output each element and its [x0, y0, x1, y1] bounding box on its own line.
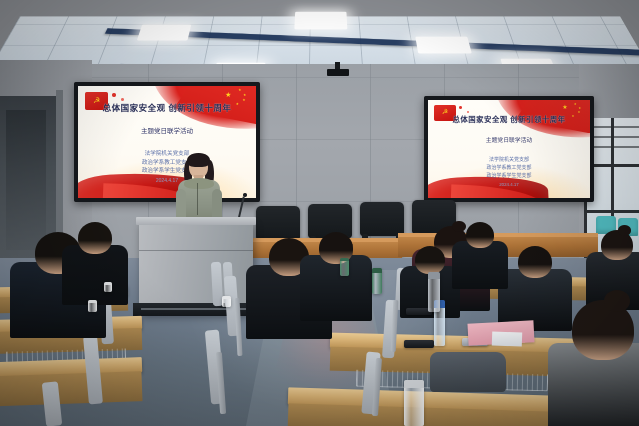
right-screen-subtitle: 主题党日联学活动: [486, 135, 532, 144]
bottle-cap: [88, 300, 97, 303]
left-screen-text: 总体国家安全观 创新引领十周年 主题党日联学活动 法学院机关党支部 政治学系教工…: [78, 86, 256, 198]
right-screen-orgs: 法学院机关党支部 政治学系教工党支部 政治学系学生党支部: [486, 157, 531, 180]
attendee-head: [518, 246, 552, 278]
bottle-cap: [428, 272, 440, 279]
attendee-hair-bun: [604, 290, 630, 312]
right-screen-text: 总体国家安全观 创新引领十周年 主题党日联学活动 法学院机关党支部 政治学系教工…: [428, 100, 590, 198]
podium-base: [133, 303, 261, 316]
window-louver-1: [587, 126, 639, 128]
right-screen-date: 2024.4.17: [499, 182, 519, 187]
back-chair-1: [256, 206, 300, 240]
presenter-hair-top: [187, 153, 210, 167]
attendee-torso: [62, 245, 128, 305]
bottle-cap: [222, 296, 231, 299]
attendee-mid-right: [300, 232, 372, 330]
right-screen-org-3: 政治学系学生党支部: [486, 173, 531, 181]
desk-front-near-left: [0, 371, 142, 407]
right-screen-org-1: 法学院机关党支部: [489, 157, 529, 165]
cup-left-1: [88, 300, 97, 312]
back-chair-3: [360, 202, 404, 236]
lecture-hall-photo: ★ ★ ★ ★ ★ ☭ 总体国家安全观 创新引领十周年 主题党日联学活动 法学院…: [0, 0, 639, 426]
presenter: [176, 155, 222, 225]
smartphone-dark-2: [404, 340, 434, 348]
white-notebook: [492, 331, 522, 346]
right-screen-title: 总体国家安全观 创新引领十周年: [452, 114, 565, 125]
attendee-torso: [300, 255, 372, 321]
presenter-zipper: [197, 183, 198, 215]
projector-mount-icon: [327, 62, 349, 76]
microphone-icon: [243, 193, 247, 197]
attendee-head: [466, 222, 494, 248]
attendee-head: [78, 222, 112, 254]
cup-right-1: [222, 296, 231, 307]
bottle-cap: [372, 268, 382, 273]
attendee-back-right: [452, 222, 508, 296]
podium-seam: [139, 250, 253, 251]
bottle-cap: [404, 380, 424, 388]
attendee-hair-bun: [618, 225, 631, 236]
green-tumbler: [372, 268, 382, 294]
left-screen-subtitle: 主题党日联学活动: [141, 125, 193, 135]
projector-body: [327, 69, 349, 76]
ceiling-light-2: [137, 25, 191, 41]
attendee-fore-right: [548, 300, 639, 426]
podium-top: [136, 217, 256, 225]
green-cup: [340, 258, 349, 276]
white-thermos: [404, 380, 424, 426]
ceiling-light-3: [415, 37, 472, 54]
window-louver-3: [587, 146, 639, 148]
ceiling-light-1: [294, 12, 347, 30]
steel-thermos: [428, 272, 440, 312]
presenter-hood: [184, 178, 214, 189]
right-led-screen[interactable]: ★ ★ ★ ★ ★ ☭ 总体国家安全观 创新引领十周年 主题党日联学活动 法学院…: [424, 96, 594, 202]
left-led-screen[interactable]: ★ ★ ★ ★ ★ ☭ 总体国家安全观 创新引领十周年 主题党日联学活动 法学院…: [74, 82, 260, 202]
left-screen-title: 总体国家安全观 创新引领十周年: [103, 102, 232, 114]
left-screen-date: 2024.4.17: [156, 178, 178, 184]
backpack-under-desk: [430, 352, 506, 392]
bottle-cap: [104, 282, 112, 285]
attendee-head: [415, 246, 445, 274]
cup-left-2: [104, 282, 112, 292]
doorway-interior: [6, 110, 46, 250]
window-louver-2: [587, 136, 639, 138]
bottle-cap: [340, 258, 349, 261]
right-screen-org-2: 政治学系教工党支部: [486, 165, 531, 173]
